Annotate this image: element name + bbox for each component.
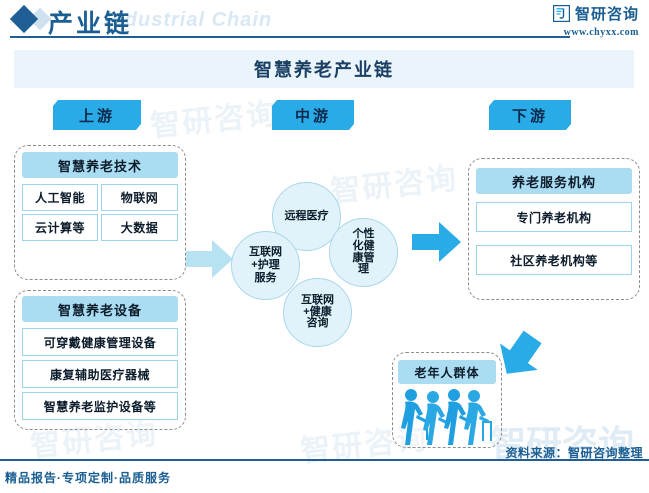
stage-tab-midstream[interactable]: 中游 bbox=[272, 100, 354, 130]
arrow-upstream-to-midstream-icon bbox=[186, 240, 234, 283]
footer-tagline: 精品报告·专项定制·品质服务 bbox=[5, 469, 171, 486]
item-internet-of-things[interactable]: 物联网 bbox=[101, 184, 178, 211]
circle-internet-nursing[interactable]: 互联网+护理服务 bbox=[231, 231, 300, 300]
arrow-downstream-to-elderly-icon bbox=[494, 330, 546, 385]
arrow-midstream-to-downstream-icon bbox=[412, 222, 462, 267]
group-header-technology: 智慧养老技术 bbox=[22, 152, 178, 178]
group-header-devices: 智慧养老设备 bbox=[22, 296, 178, 322]
circle-telemedicine-label: 远程医疗 bbox=[285, 210, 329, 223]
item-big-data[interactable]: 大数据 bbox=[101, 214, 178, 241]
item-rehab-medical-equipment[interactable]: 康复辅助医疗器械 bbox=[22, 360, 178, 388]
circle-internet-consult-label: 互联网+健康咨询 bbox=[301, 295, 335, 330]
brand-url: www.chyxx.com bbox=[553, 27, 639, 38]
page-title: 产业链 bbox=[48, 4, 132, 40]
watermark-brand-mid: 智研咨询 bbox=[328, 153, 460, 210]
stage-tab-upstream[interactable]: 上游 bbox=[53, 100, 141, 130]
chyxx-logo-icon bbox=[553, 5, 570, 22]
watermark-brand-top: 智研咨询 bbox=[148, 88, 280, 145]
group-header-service-institutions: 养老服务机构 bbox=[476, 168, 632, 194]
circle-personal-health-label: 个性化健康管理 bbox=[351, 229, 377, 275]
diagram-title-band: 智慧养老产业链 bbox=[14, 50, 634, 88]
diamond-icon bbox=[10, 5, 38, 33]
header-divider bbox=[10, 36, 570, 38]
circle-internet-health-consulting[interactable]: 互联网+健康咨询 bbox=[283, 278, 352, 347]
diagram-title: 智慧养老产业链 bbox=[254, 56, 394, 82]
circle-personal-health-management[interactable]: 个性化健康管理 bbox=[329, 218, 398, 287]
item-dedicated-eldercare-institution[interactable]: 专门养老机构 bbox=[476, 202, 632, 232]
group-header-elderly-population: 老年人群体 bbox=[398, 360, 496, 384]
item-community-eldercare-institution[interactable]: 社区养老机构等 bbox=[476, 245, 632, 275]
footer-source: 资料来源：智研咨询整理 bbox=[505, 444, 643, 461]
stage-tab-downstream[interactable]: 下游 bbox=[489, 100, 571, 130]
slide-canvas: 智研咨询 智研咨询 智研咨询 智研咨询 智研咨询 Industrial Chai… bbox=[0, 0, 649, 493]
item-artificial-intelligence[interactable]: 人工智能 bbox=[22, 184, 98, 211]
circle-internet-nursing-label: 互联网+护理服务 bbox=[249, 246, 283, 285]
elderly-people-icon bbox=[400, 388, 492, 451]
brand-block: 智研咨询 www.chyxx.com bbox=[553, 3, 639, 38]
item-wearable-health-devices[interactable]: 可穿戴健康管理设备 bbox=[22, 328, 178, 356]
item-cloud-computing[interactable]: 云计算等 bbox=[22, 214, 98, 241]
brand-name: 智研咨询 bbox=[575, 3, 639, 24]
item-eldercare-monitoring[interactable]: 智慧养老监护设备等 bbox=[22, 392, 178, 420]
page-header: Industrial Chain 产业链 智研咨询 www.chyxx.com bbox=[0, 0, 649, 45]
